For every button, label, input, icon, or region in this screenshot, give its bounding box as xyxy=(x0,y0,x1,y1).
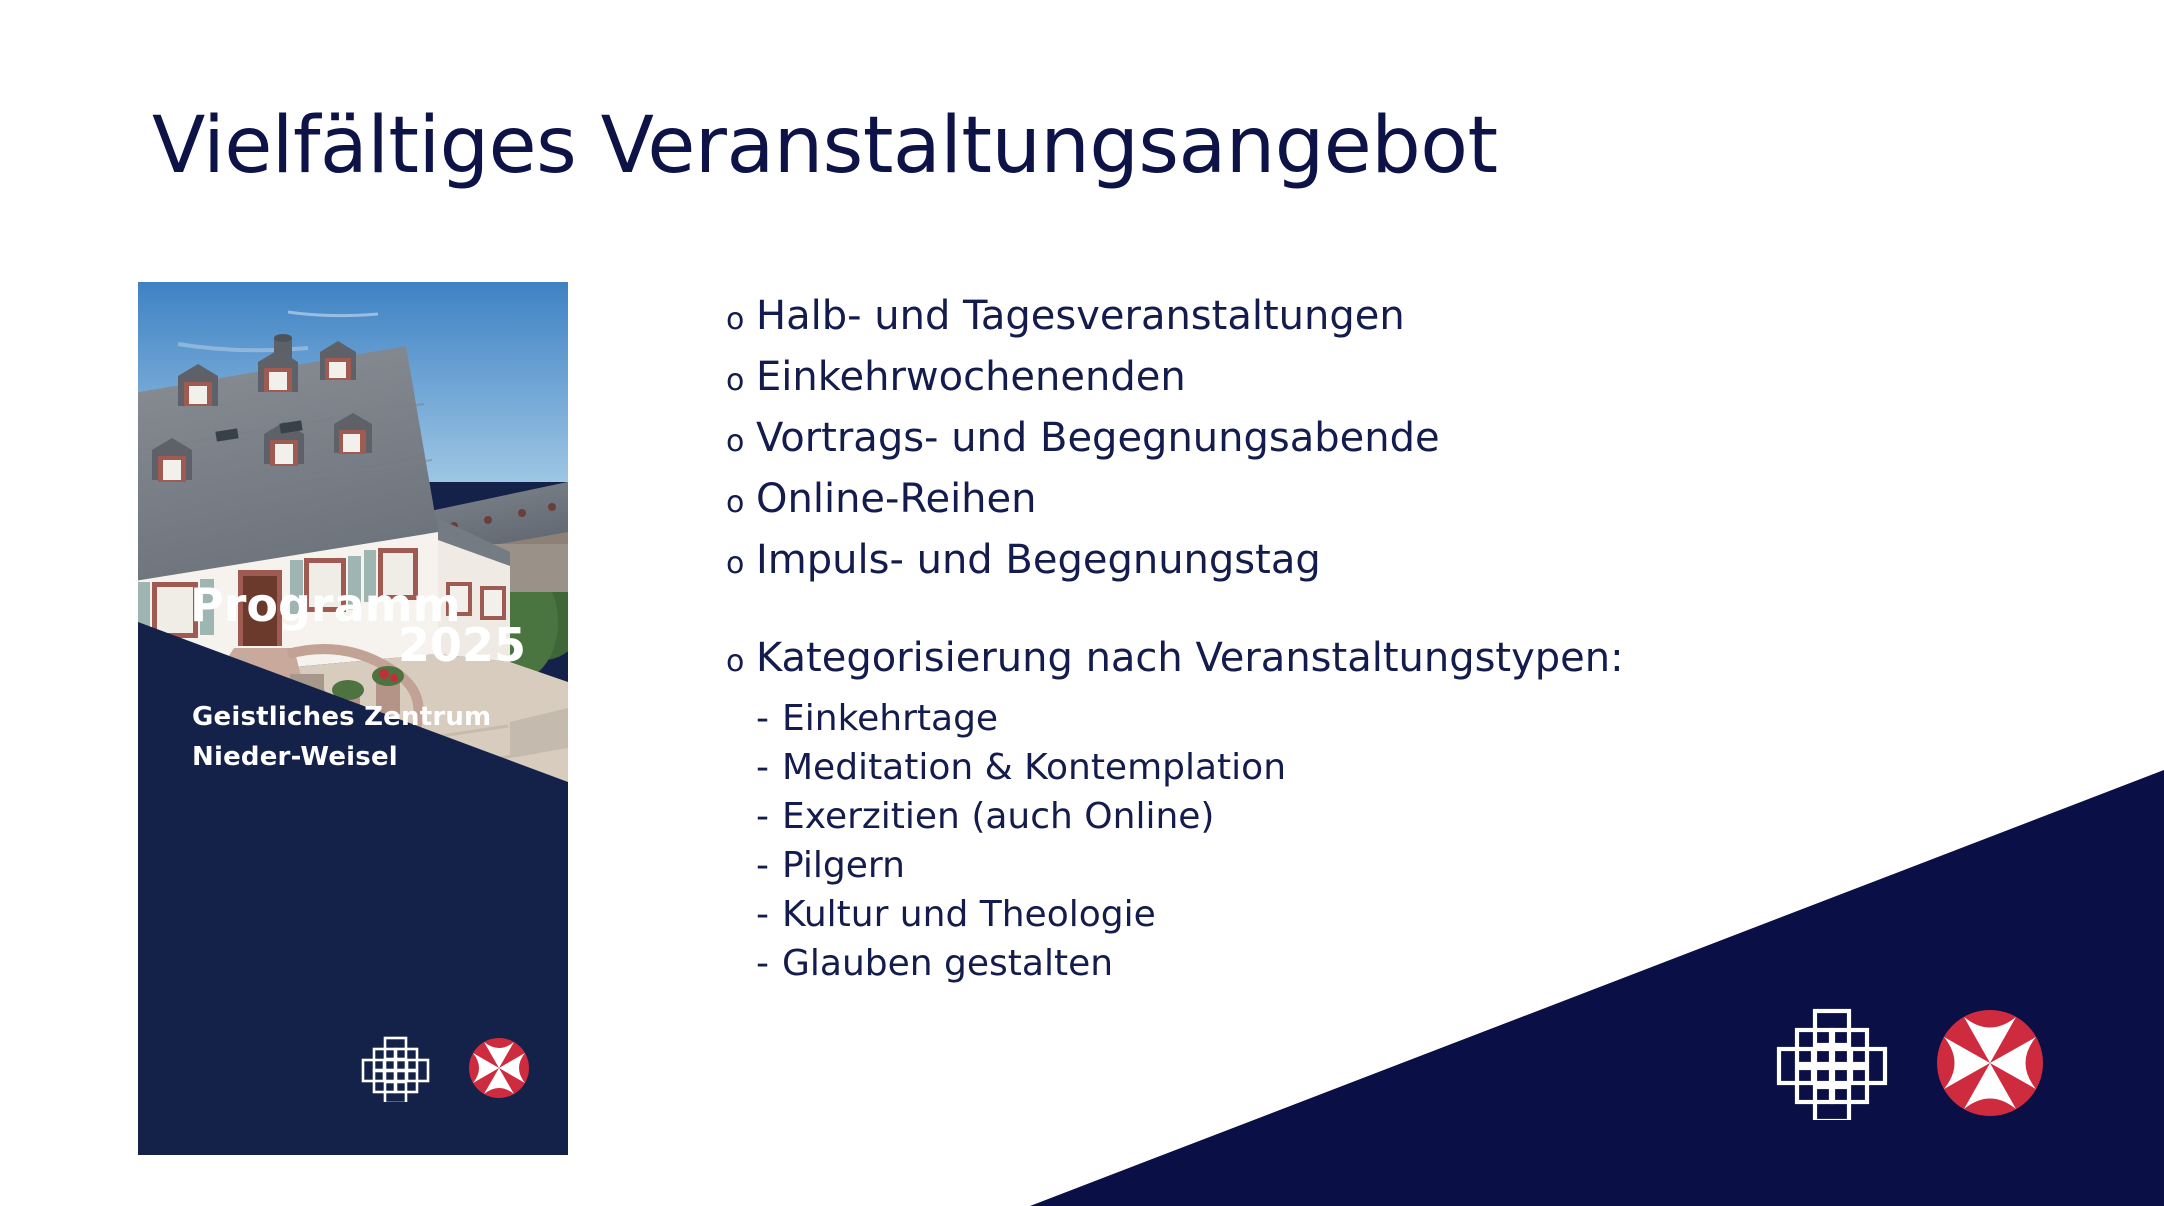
bullet-marker-icon: o xyxy=(726,366,756,396)
list-item: o Einkehrwochenenden xyxy=(726,357,1906,418)
dash-marker-icon: - xyxy=(756,750,782,786)
page-title: Vielfältiges Veranstaltungsangebot xyxy=(152,106,1498,188)
corner-logo-group xyxy=(1768,1002,2058,1120)
brochure-logo-group xyxy=(356,1032,546,1102)
brochure-org-line-2: Nieder-Weisel xyxy=(192,742,398,772)
johanniter-square-cross-icon xyxy=(363,1038,428,1102)
sub-list-item-label: Meditation & Kontemplation xyxy=(782,750,1286,786)
bullet-content-column: o Halb- und Tagesveranstaltungen o Einke… xyxy=(726,296,1906,995)
dash-marker-icon: - xyxy=(756,848,782,884)
bullet-marker-icon: o xyxy=(726,488,756,518)
sub-list-item-label: Pilgern xyxy=(782,848,905,884)
sub-list-item: - Kultur und Theologie xyxy=(726,897,1906,946)
list-item: o Halb- und Tagesveranstaltungen xyxy=(726,296,1906,357)
maltese-cross-icon xyxy=(1937,1010,2043,1116)
sub-list-item-label: Exerzitien (auch Online) xyxy=(782,799,1214,835)
sub-list-item: - Einkehrtage xyxy=(726,701,1906,750)
johanniter-square-cross-icon xyxy=(1779,1011,1885,1120)
sub-list-item: - Meditation & Kontemplation xyxy=(726,750,1906,799)
sub-list-item: - Glauben gestalten xyxy=(726,946,1906,995)
sub-list-item-label: Glauben gestalten xyxy=(782,946,1113,982)
bullet-marker-icon: o xyxy=(726,549,756,579)
list-item-label: Halb- und Tagesveranstaltungen xyxy=(756,296,1405,336)
brochure-text-block: Programm 2025 Geistliches Zentrum Nieder… xyxy=(138,282,568,1155)
brochure-year-label: 2025 xyxy=(138,622,526,668)
dash-marker-icon: - xyxy=(756,946,782,982)
sub-list-item-label: Einkehrtage xyxy=(782,701,998,737)
sub-list-item: - Pilgern xyxy=(726,848,1906,897)
list-group-spacer xyxy=(726,601,1906,638)
list-item-label: Online-Reihen xyxy=(756,479,1037,519)
list-item: o Impuls- und Begegnungstag xyxy=(726,540,1906,601)
list-item-label: Kategorisierung nach Veranstaltungstypen… xyxy=(756,638,1624,678)
sub-list-item: - Exerzitien (auch Online) xyxy=(726,799,1906,848)
list-item-label: Impuls- und Begegnungstag xyxy=(756,540,1321,580)
list-item-label: Vortrags- und Begegnungsabende xyxy=(756,418,1440,458)
dash-marker-icon: - xyxy=(756,897,782,933)
dash-marker-icon: - xyxy=(756,799,782,835)
maltese-cross-icon xyxy=(469,1038,529,1098)
category-sub-list: - Einkehrtage - Meditation & Kontemplati… xyxy=(726,701,1906,995)
brochure-org-line-1: Geistliches Zentrum xyxy=(192,702,491,732)
dash-marker-icon: - xyxy=(756,701,782,737)
bullet-marker-icon: o xyxy=(726,305,756,335)
list-item: o Vortrags- und Begegnungsabende xyxy=(726,418,1906,479)
bullet-marker-icon: o xyxy=(726,647,756,677)
list-item-label: Einkehrwochenenden xyxy=(756,357,1186,397)
sub-list-item-label: Kultur und Theologie xyxy=(782,897,1156,933)
presentation-slide: Vielfältiges Veranstaltungsangebot xyxy=(0,0,2164,1206)
list-item-category-heading: o Kategorisierung nach Veranstaltungstyp… xyxy=(726,638,1906,699)
list-item: o Online-Reihen xyxy=(726,479,1906,540)
brochure-cover-card: Programm 2025 Geistliches Zentrum Nieder… xyxy=(138,282,568,1155)
bullet-marker-icon: o xyxy=(726,427,756,457)
